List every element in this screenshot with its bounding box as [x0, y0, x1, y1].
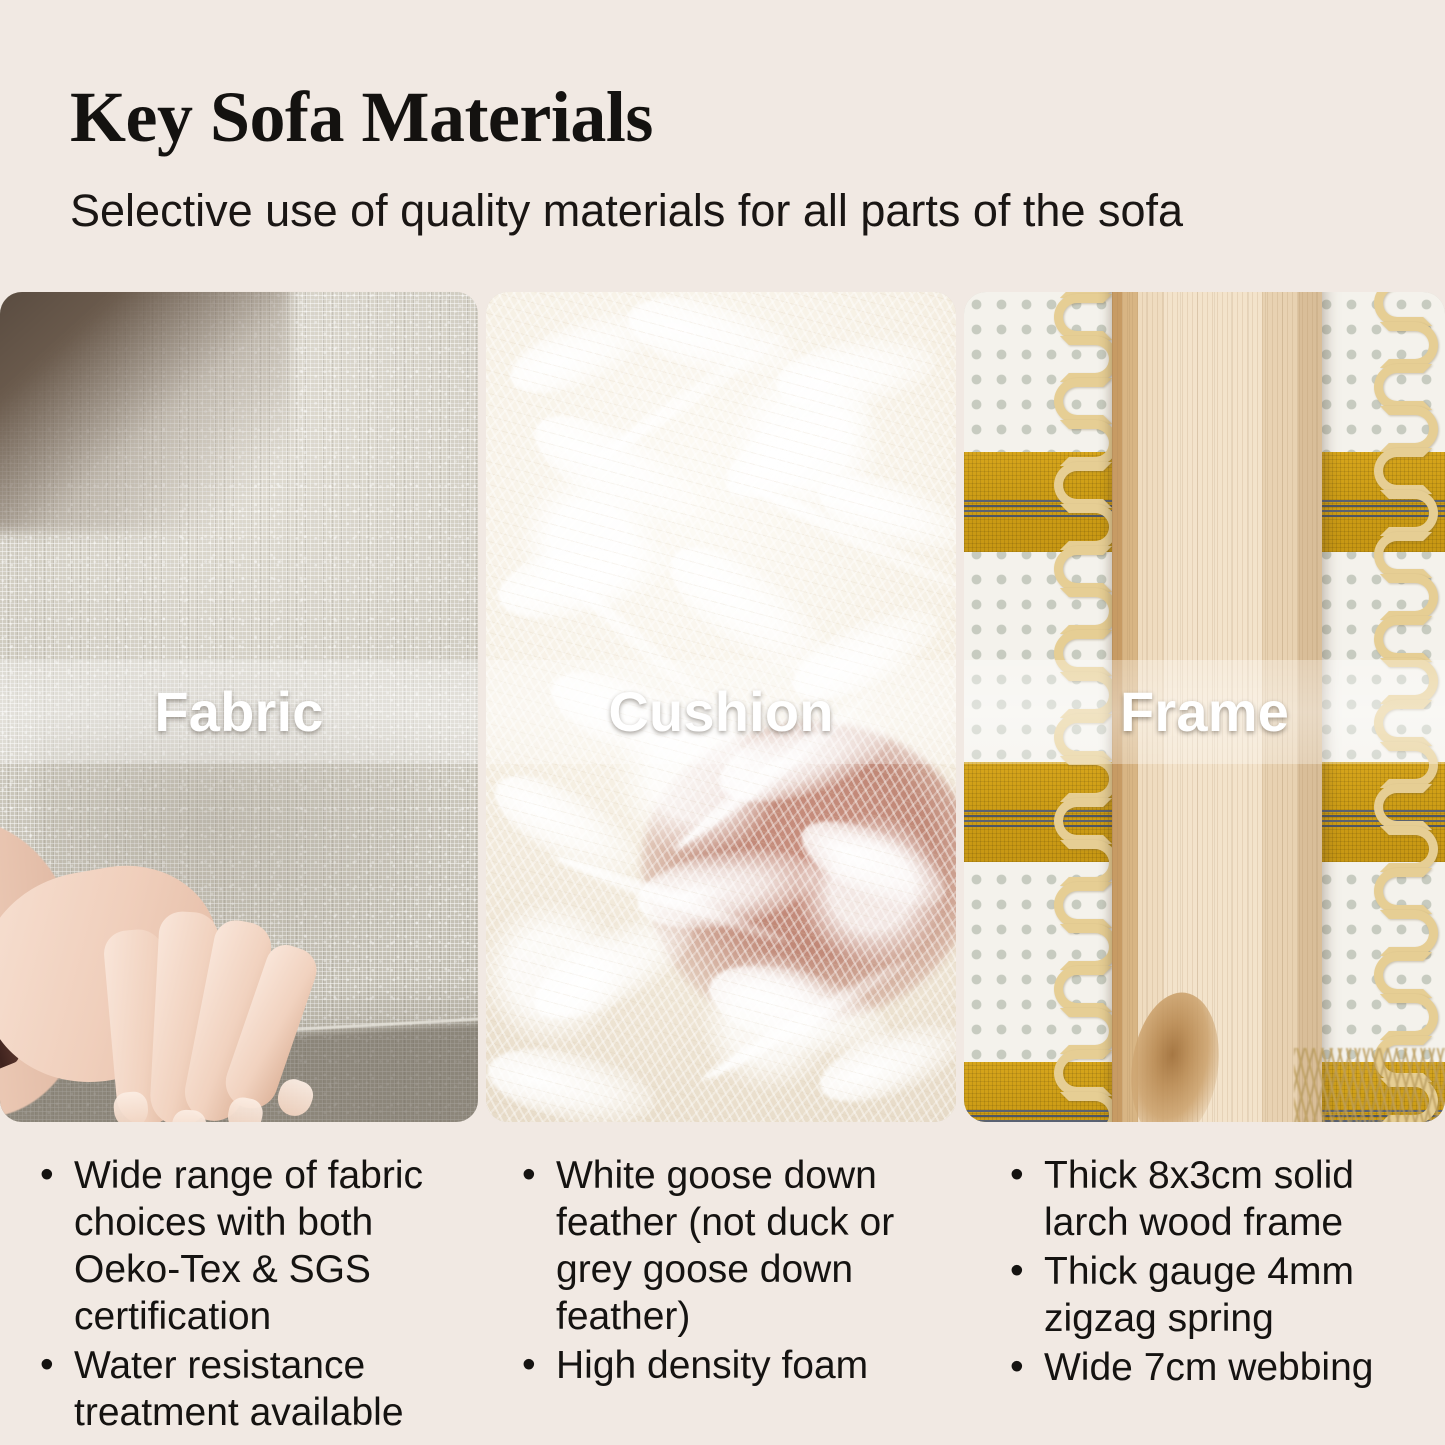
page-subtitle: Selective use of quality materials for a…: [70, 156, 1375, 238]
list-item: Wide 7cm webbing: [1004, 1344, 1445, 1391]
hand-illustration: [0, 762, 342, 1122]
fabric-corner-shadow: [0, 292, 290, 532]
bullet-column-cushion: White goose down feather (not duck or gr…: [516, 1152, 962, 1391]
header: Key Sofa Materials Selective use of qual…: [0, 0, 1445, 292]
bullet-list: Wide range of fabric choices with both O…: [34, 1152, 486, 1436]
list-item: Water resistance treatment available: [34, 1342, 486, 1436]
card-fabric[interactable]: Fabric: [0, 292, 478, 1122]
card-cushion[interactable]: Cushion: [486, 292, 956, 1122]
straw-bundle: [1294, 1048, 1445, 1122]
list-item: Thick gauge 4mm zigzag spring: [1004, 1248, 1445, 1342]
page-title: Key Sofa Materials: [70, 78, 1375, 156]
fingernail-shape: [112, 1091, 149, 1122]
bullet-list: White goose down feather (not duck or gr…: [516, 1152, 962, 1389]
card-label-frame: Frame: [1120, 683, 1289, 741]
label-band-cushion: Cushion: [486, 660, 956, 764]
label-band-frame: Frame: [964, 660, 1445, 764]
bullet-list: Thick 8x3cm solid larch wood frame Thick…: [1004, 1152, 1445, 1391]
fingernail-shape: [273, 1075, 317, 1120]
card-frame[interactable]: Frame: [964, 292, 1445, 1122]
bullet-column-frame: Thick 8x3cm solid larch wood frame Thick…: [1004, 1152, 1445, 1393]
infographic-page: Key Sofa Materials Selective use of qual…: [0, 0, 1445, 1445]
bullet-columns: Wide range of fabric choices with both O…: [0, 1152, 1445, 1445]
label-band-fabric: Fabric: [0, 660, 478, 764]
card-label-cushion: Cushion: [608, 683, 833, 741]
list-item: Thick 8x3cm solid larch wood frame: [1004, 1152, 1445, 1246]
list-item: White goose down feather (not duck or gr…: [516, 1152, 962, 1340]
card-label-fabric: Fabric: [154, 683, 323, 741]
list-item: High density foam: [516, 1342, 962, 1389]
bullet-column-fabric: Wide range of fabric choices with both O…: [34, 1152, 486, 1438]
list-item: Wide range of fabric choices with both O…: [34, 1152, 486, 1340]
material-cards: Fabric: [0, 292, 1445, 1122]
